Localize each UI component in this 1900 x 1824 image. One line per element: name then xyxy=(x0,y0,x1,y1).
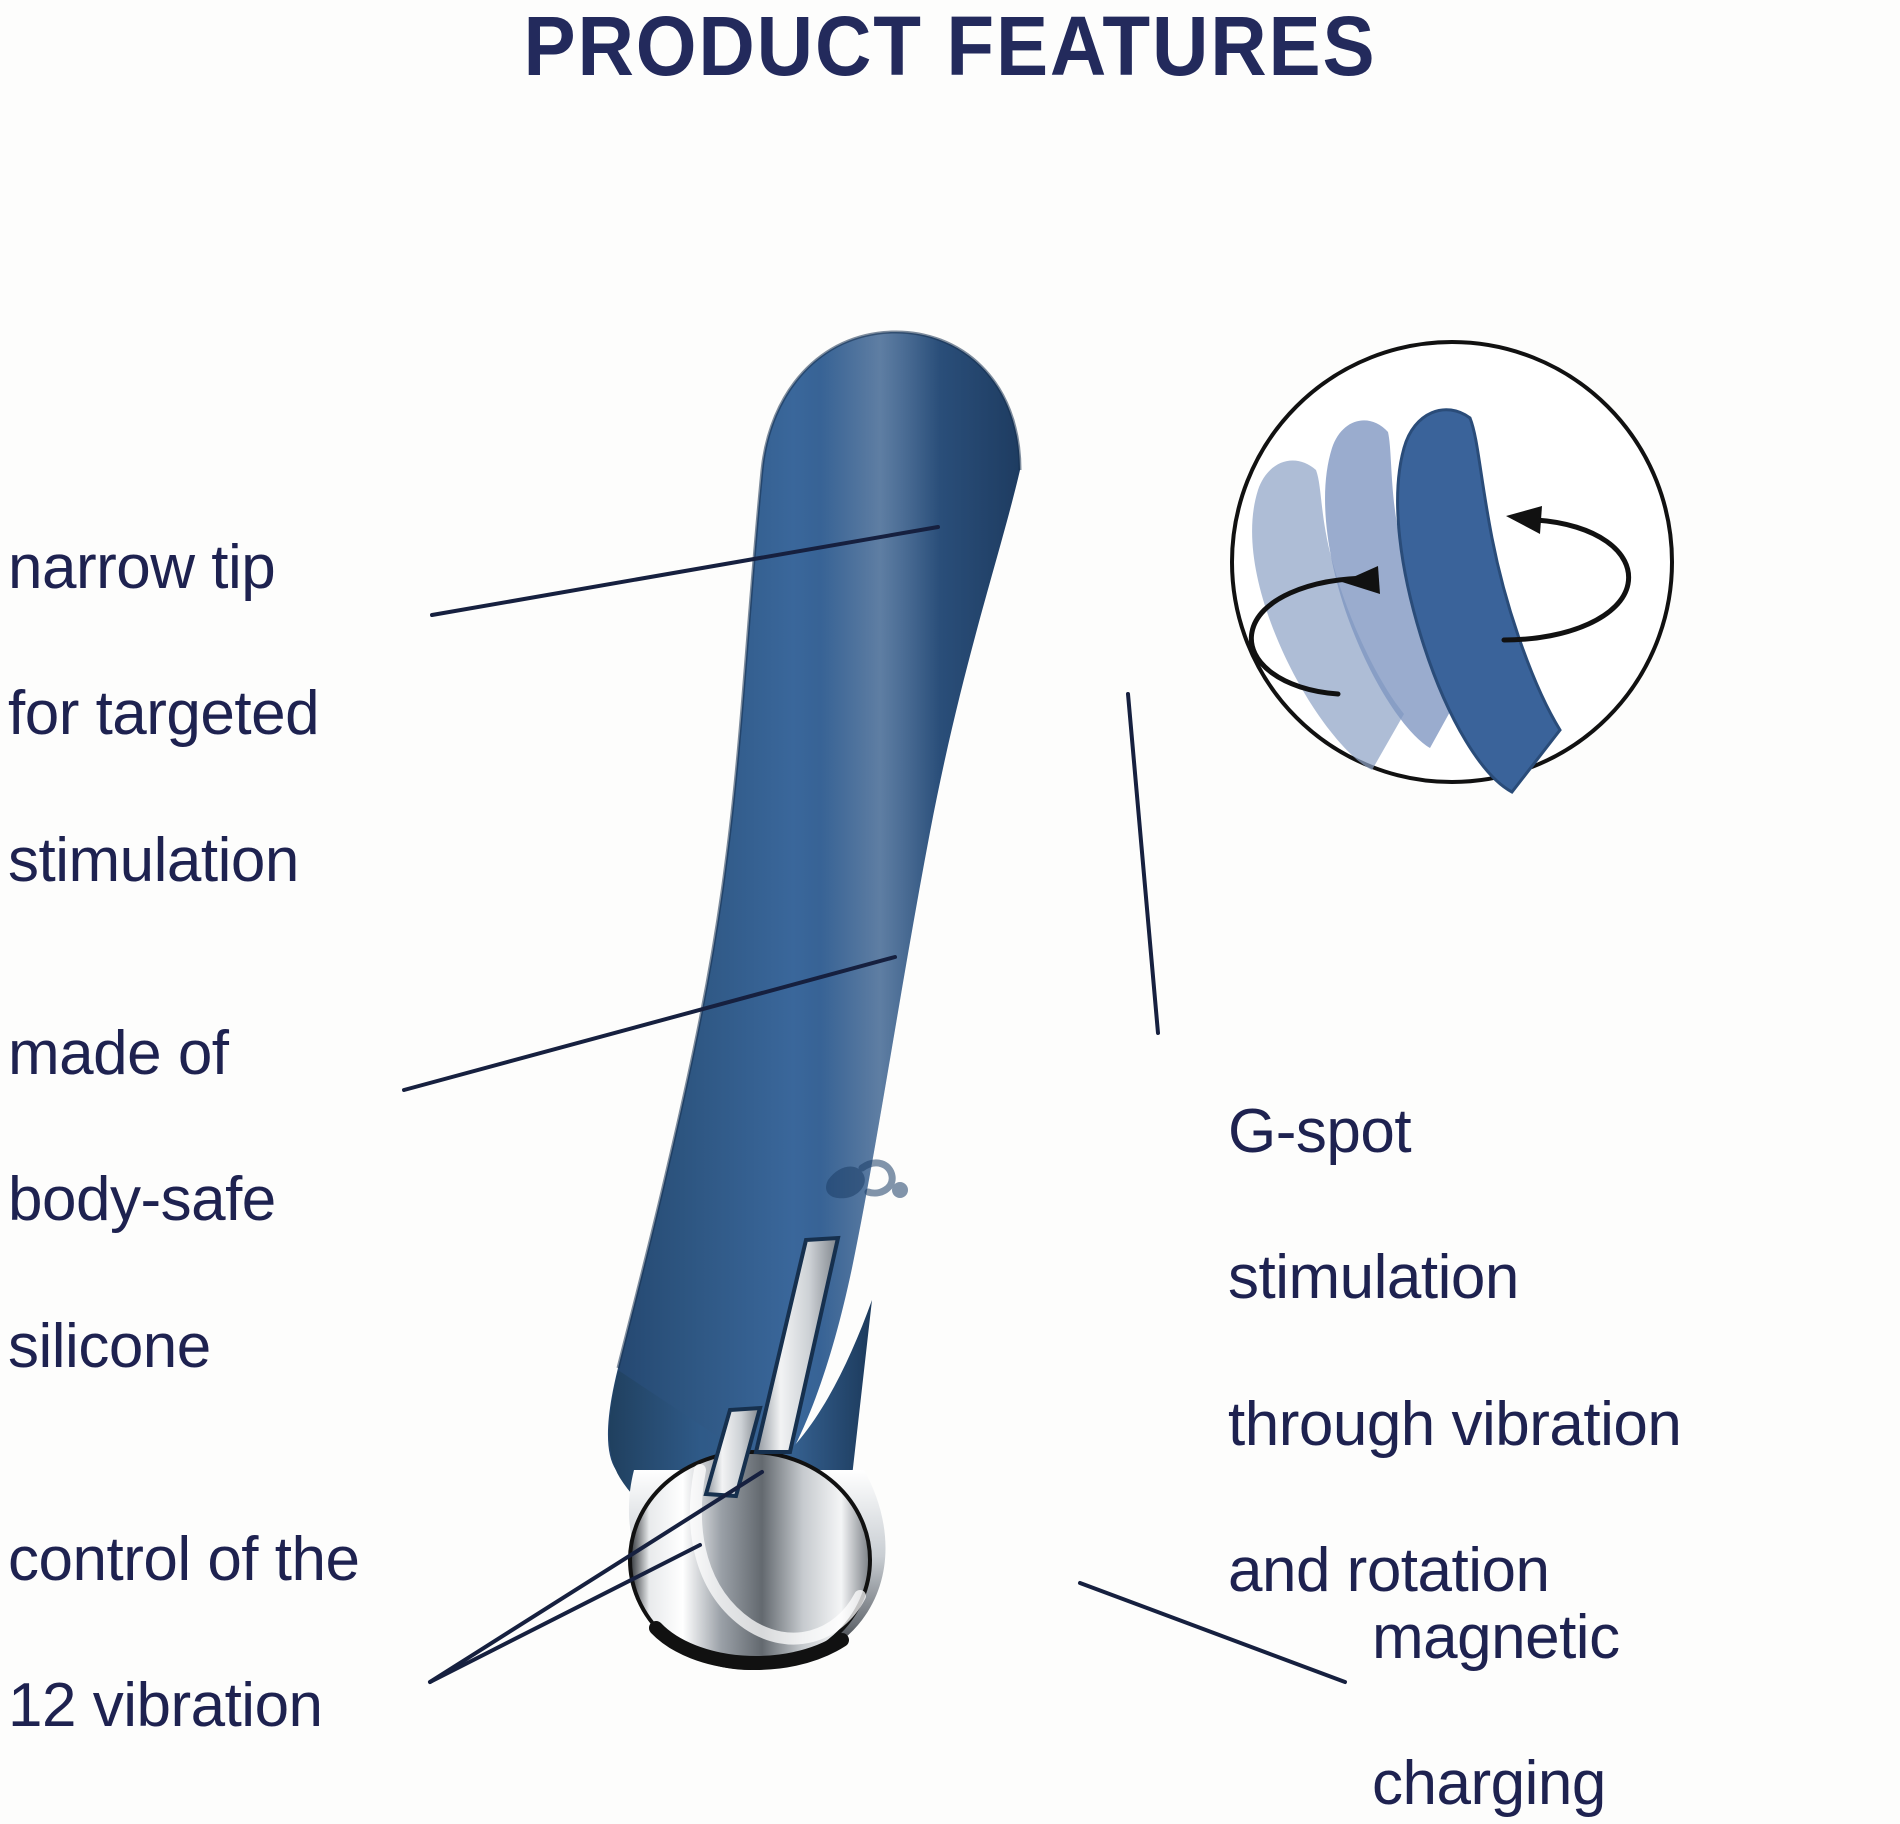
callout-programs: control of the 12 vibration and 5 rotati… xyxy=(8,1450,448,1824)
callout-silicone: made of body-safe silicone xyxy=(8,944,408,1456)
callout-silicone-line-1: made of xyxy=(8,1017,408,1090)
callout-gspot-line-1: G-spot xyxy=(1228,1095,1888,1168)
leader-silicone xyxy=(404,957,895,1090)
callout-magnetic: magnetic charging connection xyxy=(1372,1528,1832,1824)
callout-programs-line-1: control of the xyxy=(8,1523,448,1596)
callout-narrow-tip-line-2: for targeted xyxy=(8,677,428,750)
page-title: PRODUCT FEATURES xyxy=(67,4,1834,90)
callout-magnetic-line-1: magnetic xyxy=(1372,1601,1832,1674)
leader-programs-b xyxy=(430,1545,700,1682)
chrome-base xyxy=(629,1452,886,1668)
callout-silicone-line-2: body-safe xyxy=(8,1163,408,1236)
callout-magnetic-line-2: charging xyxy=(1372,1747,1832,1820)
infographic-root: PRODUCT FEATURES xyxy=(0,0,1900,1824)
rotation-detail-inset xyxy=(1232,342,1672,792)
satisfyer-logo-emboss xyxy=(826,1163,908,1198)
callout-narrow-tip: narrow tip for targeted stimulation xyxy=(8,458,428,970)
control-buttons[interactable] xyxy=(706,1238,838,1496)
callout-silicone-line-3: silicone xyxy=(8,1310,408,1383)
inset-solid-tip xyxy=(1398,410,1560,792)
leader-programs-a xyxy=(430,1472,762,1682)
magnetic-charging-contact xyxy=(656,1628,842,1663)
callout-narrow-tip-line-3: stimulation xyxy=(8,824,428,897)
ghost-tip-inner xyxy=(1325,420,1462,748)
product-body xyxy=(608,330,1020,1548)
callout-gspot-line-2: stimulation xyxy=(1228,1241,1888,1314)
callout-programs-line-3: and 5 rotation xyxy=(8,1816,448,1824)
rotation-arrow xyxy=(1251,506,1628,694)
callout-narrow-tip-line-1: narrow tip xyxy=(8,531,428,604)
rotation-arrowhead-left xyxy=(1342,566,1380,594)
callout-programs-line-2: 12 vibration xyxy=(8,1669,448,1742)
ghost-tip-outer xyxy=(1252,460,1404,770)
rotation-arrowhead-right xyxy=(1506,506,1542,534)
leader-gspot xyxy=(1128,694,1158,1033)
leader-narrow-tip xyxy=(432,527,938,615)
callout-gspot-line-3: through vibration xyxy=(1228,1388,1888,1461)
